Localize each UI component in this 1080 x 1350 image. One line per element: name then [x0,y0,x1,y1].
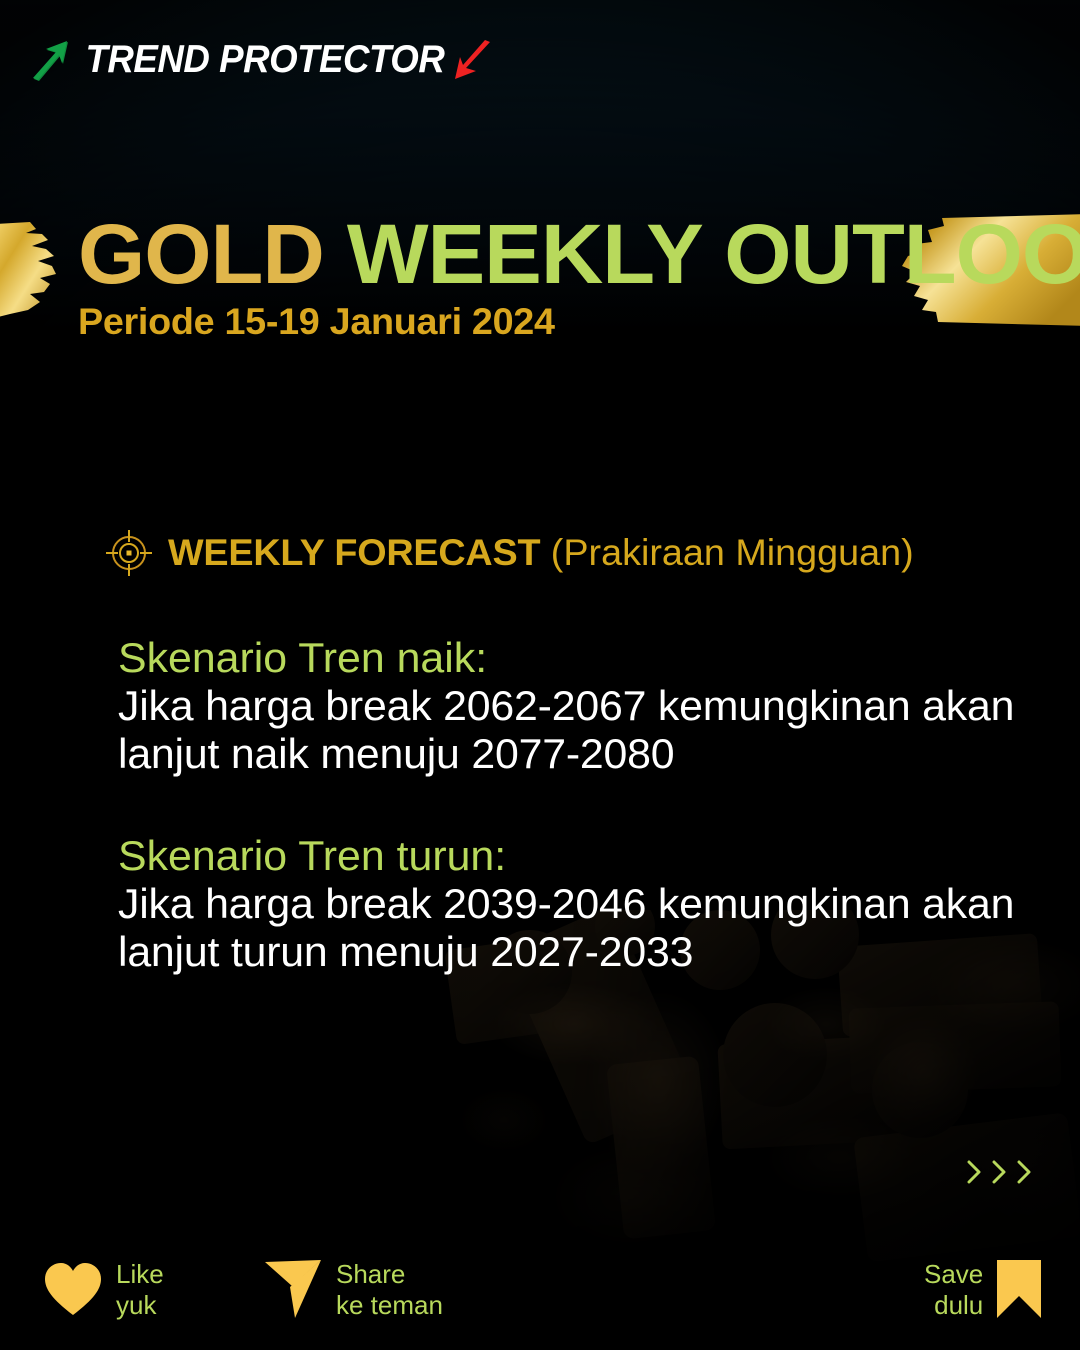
headline-word-weekly-outlook: WEEKLY OUTLOOK [347,207,1080,301]
cta-row: Like yuk Share ke teman Save dulu [0,1248,1080,1348]
section-title-regular: (Prakiraan Mingguan) [551,532,914,573]
scenario-downtrend: Skenario Tren turun: Jika harga break 20… [118,832,1018,976]
paper-plane-icon [262,1256,324,1324]
share-cta[interactable]: Share ke teman [262,1256,443,1324]
scenario-downtrend-label: Skenario Tren turun: [118,832,1036,880]
chevron-right-icon [991,1160,1007,1184]
share-cta-line1: Share [336,1259,443,1290]
green-up-arrow-icon [30,39,72,81]
brand-name: TREND PROTECTOR [85,38,444,82]
headline-subtitle: Periode 15-19 Januari 2024 [78,302,955,342]
heart-icon [42,1256,104,1324]
like-cta-line2: yuk [116,1290,164,1321]
section-title-bold: WEEKLY FORECAST [168,532,540,573]
scenario-uptrend: Skenario Tren naik: Jika harga break 206… [118,634,1018,778]
save-cta-line2: dulu [924,1290,983,1321]
swipe-next-indicator[interactable] [966,1160,1032,1184]
headline-word-gold: GOLD [78,207,324,301]
scenario-uptrend-body: Jika harga break 2062-2067 kemungkinan a… [118,682,1016,778]
brand-logo[interactable]: TREND PROTECTOR [30,32,492,88]
poster-canvas: TREND PROTECTOR [0,0,1080,1350]
share-cta-text: Share ke teman [336,1259,443,1321]
weekly-forecast-header: WEEKLY FORECAST (Prakiraan Mingguan) [104,528,899,578]
like-cta-line1: Like [116,1259,164,1290]
chevron-right-icon [966,1160,982,1184]
page-title: GOLD WEEKLY OUTLOOK [78,212,964,296]
headline-block: GOLD WEEKLY OUTLOOK Periode 15-19 Januar… [78,212,938,342]
like-cta[interactable]: Like yuk [42,1256,164,1324]
save-cta[interactable]: Save dulu [924,1256,1045,1324]
red-down-arrow-icon [452,40,492,80]
like-cta-text: Like yuk [116,1259,164,1321]
bookmark-icon [993,1256,1045,1324]
scenario-uptrend-label: Skenario Tren naik: [118,634,1036,682]
chevron-right-icon [1016,1160,1032,1184]
gold-brush-stroke-left [0,218,58,322]
save-cta-line1: Save [924,1259,983,1290]
share-cta-line2: ke teman [336,1290,443,1321]
save-cta-text: Save dulu [924,1259,983,1321]
section-title: WEEKLY FORECAST (Prakiraan Mingguan) [168,533,914,573]
target-crosshair-icon [104,528,154,578]
scenario-downtrend-body: Jika harga break 2039-2046 kemungkinan a… [118,880,1016,976]
